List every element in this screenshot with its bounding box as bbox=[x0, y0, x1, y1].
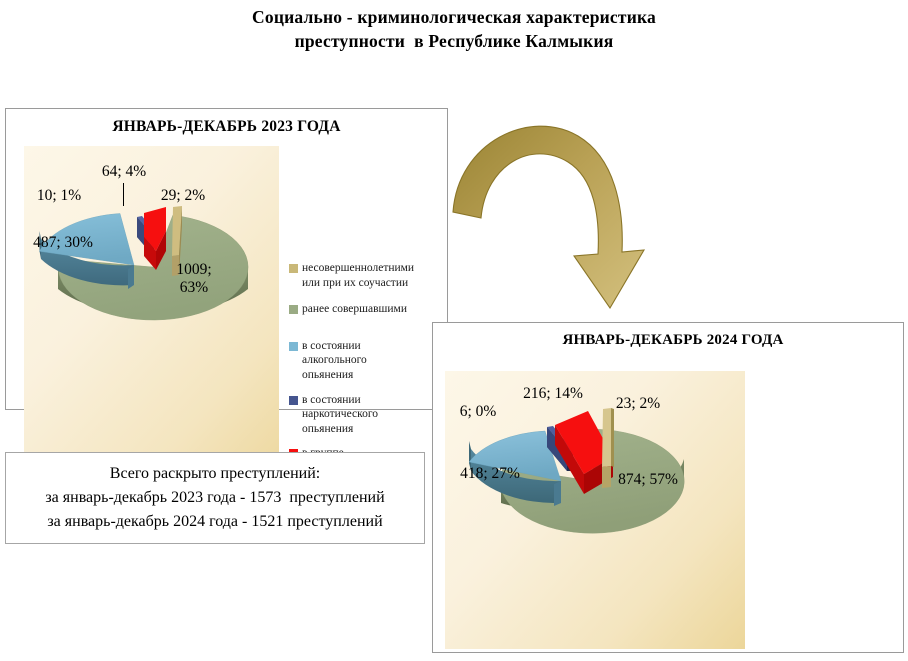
chart-2024-label-narcotic: 6; 0% bbox=[447, 403, 509, 421]
slice-2024-alcohol-edge2 bbox=[554, 481, 561, 506]
chart-2023-label-group: 64; 4% bbox=[86, 163, 162, 181]
chart-2023[interactable]: ЯНВАРЬ-ДЕКАБРЬ 2023 ГОДА bbox=[5, 108, 448, 410]
chart-2024-label-alcohol: 418; 27% bbox=[443, 465, 537, 483]
slide-root: Социально - криминологическая характерис… bbox=[0, 0, 908, 661]
chart-2024-title: ЯНВАРЬ-ДЕКАБРЬ 2024 ГОДА bbox=[433, 332, 903, 349]
page-title-line-2: преступности в Республике Калмыкия bbox=[0, 30, 908, 54]
chart-2023-label-alcohol: 487; 30% bbox=[19, 234, 107, 252]
chart-2024[interactable]: ЯНВАРЬ-ДЕКАБРЬ 2024 ГОДА bbox=[432, 322, 904, 653]
chart-2024-label-repeat: 874; 57% bbox=[603, 471, 693, 489]
legend-swatch-minors-icon bbox=[289, 264, 298, 273]
chart-2023-label-narcotic: 10; 1% bbox=[24, 187, 94, 205]
legend-label-repeat: ранее совершавшими bbox=[302, 302, 407, 317]
summary-line-2: за январь-декабрь 2023 года - 1573 прест… bbox=[45, 486, 384, 510]
legend-label-alcohol: в состоянии алкогольного опьянения bbox=[302, 339, 367, 383]
legend-item-alcohol[interactable]: в состоянии алкогольного опьянения bbox=[289, 339, 447, 383]
legend-item-repeat[interactable]: ранее совершавшими bbox=[289, 302, 447, 317]
legend-label-minors: несовершеннолетними или при их соучастии bbox=[302, 261, 414, 290]
chart-2024-label-minors: 23; 2% bbox=[603, 395, 673, 413]
arrow-shape bbox=[453, 126, 644, 308]
transition-arrow-icon bbox=[452, 112, 662, 327]
legend-swatch-repeat-icon bbox=[289, 305, 298, 314]
page-title-line-1: Социально - криминологическая характерис… bbox=[0, 6, 908, 30]
slice-alcohol-side-edge2 bbox=[128, 265, 134, 289]
slice-2024-minors bbox=[602, 408, 611, 467]
chart-2024-label-group: 216; 14% bbox=[505, 385, 601, 403]
slice-2024-minors-side2 bbox=[611, 408, 614, 467]
legend-item-narcotic[interactable]: в состоянии наркотического опьянения bbox=[289, 393, 447, 437]
chart-2023-pie bbox=[16, 139, 286, 439]
chart-2023-leader-line bbox=[123, 183, 124, 206]
chart-2023-title: ЯНВАРЬ-ДЕКАБРЬ 2023 ГОДА bbox=[6, 118, 447, 136]
summary-line-1: Всего раскрыто преступлений: bbox=[110, 462, 320, 486]
legend-swatch-alcohol-icon bbox=[289, 342, 298, 351]
page-title: Социально - криминологическая характерис… bbox=[0, 6, 908, 53]
summary-box: Всего раскрыто преступлений: за январь-д… bbox=[5, 452, 425, 544]
legend-label-narcotic: в состоянии наркотического опьянения bbox=[302, 393, 378, 437]
chart-2023-label-minors: 29; 2% bbox=[146, 187, 220, 205]
legend-swatch-narcotic-icon bbox=[289, 396, 298, 405]
legend-item-minors[interactable]: несовершеннолетними или при их соучастии bbox=[289, 261, 447, 290]
summary-line-3: за январь-декабрь 2024 года - 1521 прест… bbox=[47, 510, 382, 534]
chart-2023-legend: несовершеннолетними или при их соучастии… bbox=[289, 261, 447, 471]
chart-2023-label-repeat: 1009; 63% bbox=[164, 261, 224, 297]
